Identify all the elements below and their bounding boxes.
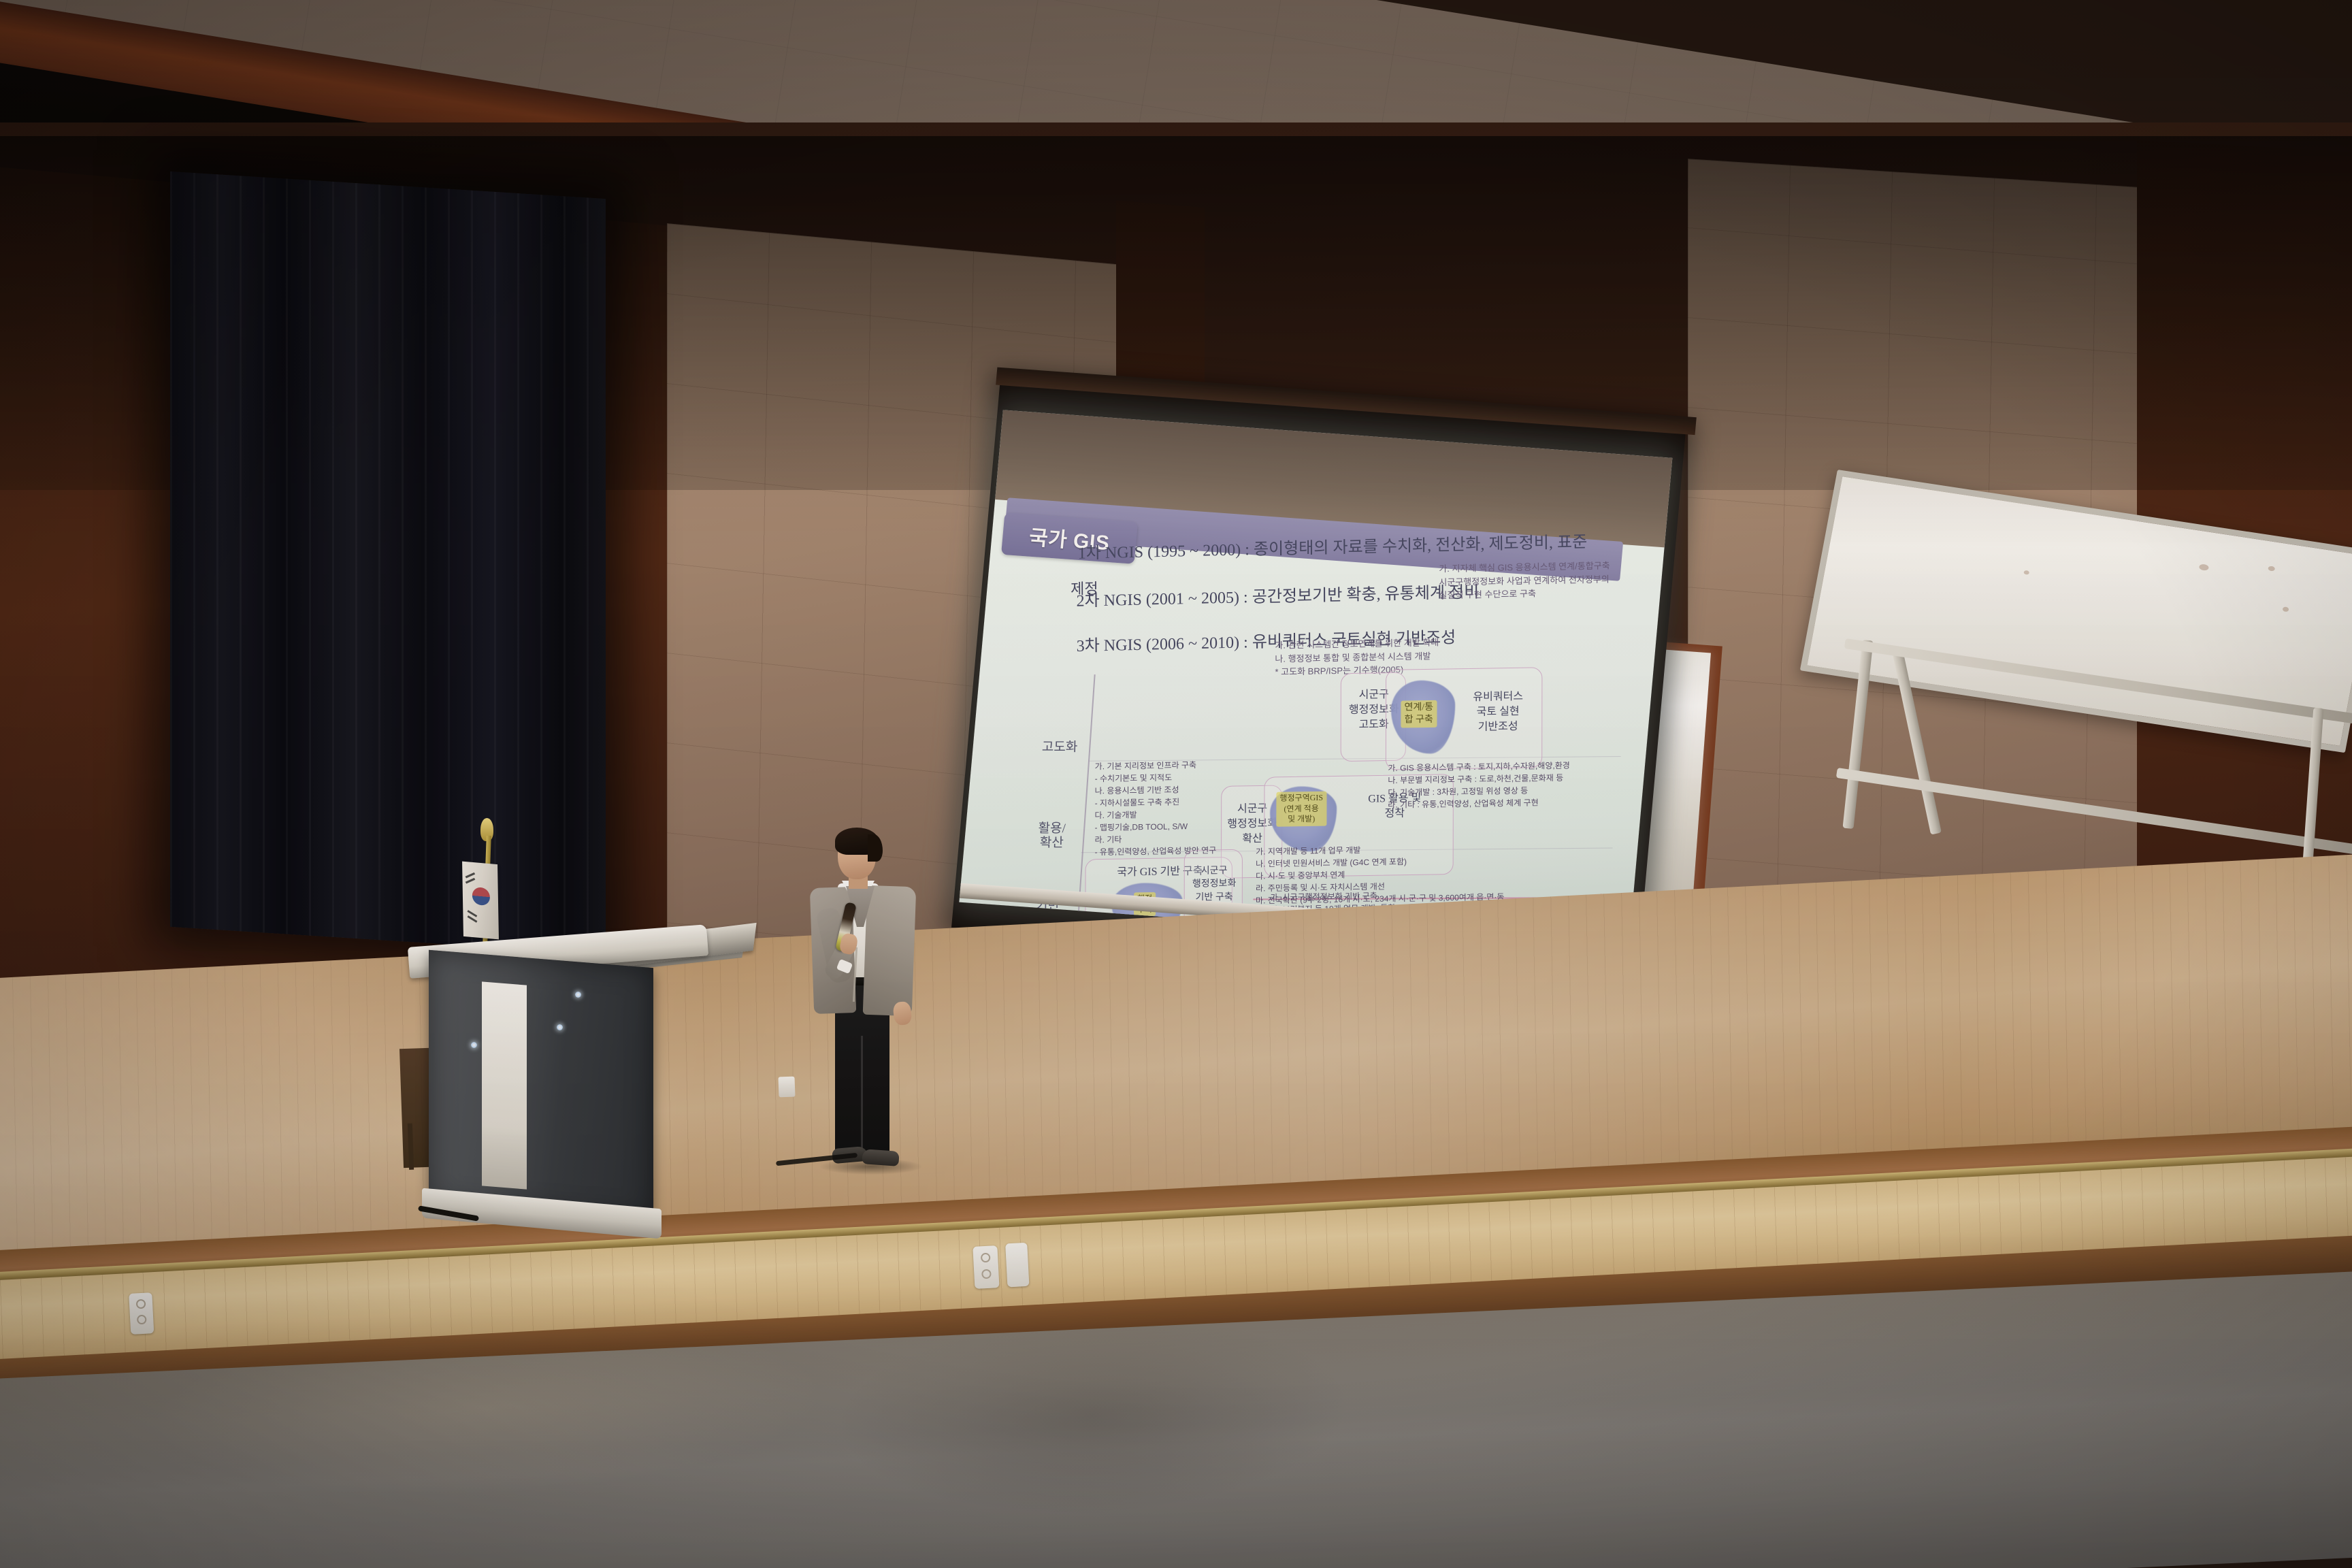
outlet-socket-bottom <box>981 1269 992 1279</box>
wall-power-outlet[interactable] <box>778 1077 795 1098</box>
presenter-hair-side <box>868 834 883 862</box>
whiteboard-smudge-2 <box>2268 566 2275 571</box>
auditorium-photo-scene: 국가 GIS 1차 NGIS (1995 ~ 2000) : 종이형태의 자료를… <box>0 0 2352 1568</box>
screen-surface: 국가 GIS 1차 NGIS (1995 ~ 2000) : 종이형태의 자료를… <box>959 410 1672 950</box>
whiteboard-smudge-4 <box>2023 570 2029 575</box>
lectern-white-stripe <box>482 981 527 1189</box>
projection-screen: 국가 GIS 1차 NGIS (1995 ~ 2000) : 종이형태의 자료를… <box>951 378 1686 977</box>
lectern-body <box>429 950 653 1222</box>
detail-list-upper-right: 가. GIS 응용시스템 구축 : 토지,지하,수자원,해양,환경 나. 부문별… <box>1388 759 1570 811</box>
lectern[interactable] <box>422 936 708 1242</box>
whiteboard-smudge-3 <box>2282 606 2289 612</box>
flag-trigram-2 <box>465 878 476 884</box>
presenter-leg-seam <box>861 1036 863 1153</box>
presentation-slide: 국가 GIS 1차 NGIS (1995 ~ 2000) : 종이형태의 자료를… <box>959 410 1672 950</box>
whiteboard-smudge-1 <box>2199 563 2209 571</box>
ngis-sub-right: 가. 지자체 핵심 GIS 응용시스템 연계/통합구축 시군구행정정보화 사업과… <box>1439 559 1610 602</box>
lectern-indicator-led-2 <box>557 1024 563 1030</box>
presenter-jacket-right <box>863 885 917 1016</box>
stage-power-outlet-far-left[interactable] <box>129 1292 154 1335</box>
stage-power-outlet-left[interactable] <box>973 1245 999 1289</box>
outlet-socket-top <box>981 1253 991 1263</box>
chair-leg-left <box>408 1124 414 1170</box>
chart-y-label-1: 고도화 <box>1030 740 1090 755</box>
outlet-socket-far-top <box>136 1299 146 1309</box>
chart-y-label-2: 활용/ 확산 <box>1022 821 1081 851</box>
detail-list-left: 가. 기본 지리정보 인프라 구축 - 수치기본도 및 지적도 나. 응용시스템… <box>1094 759 1216 859</box>
presenter-shoe-right <box>862 1149 899 1166</box>
stage-power-switch-right[interactable] <box>1005 1243 1029 1288</box>
lectern-indicator-led-1 <box>575 992 581 998</box>
box-top-highlight: 연계/통 합 구축 <box>1401 700 1437 728</box>
presenter <box>800 832 929 1172</box>
lectern-indicator-led-3 <box>471 1042 477 1048</box>
outlet-socket-far-bottom <box>137 1315 147 1325</box>
flag-taegeuk-circle <box>472 887 490 906</box>
ngis-line-2: 2차 NGIS (2001 ~ 2005) : 공간정보기반 확충, 유통체계 … <box>1076 578 1479 610</box>
box-bottom-right-text: 시군구 행정정보화 기반 구축 <box>1181 864 1247 904</box>
korean-flag <box>462 862 499 940</box>
stage-curtain <box>170 171 606 954</box>
box-top-right-text: 유비쿼터스 국토 실현 기반조성 <box>1454 689 1541 736</box>
box-mid-highlight: 행정구역GIS (연계 적용 및 개발) <box>1276 791 1326 827</box>
